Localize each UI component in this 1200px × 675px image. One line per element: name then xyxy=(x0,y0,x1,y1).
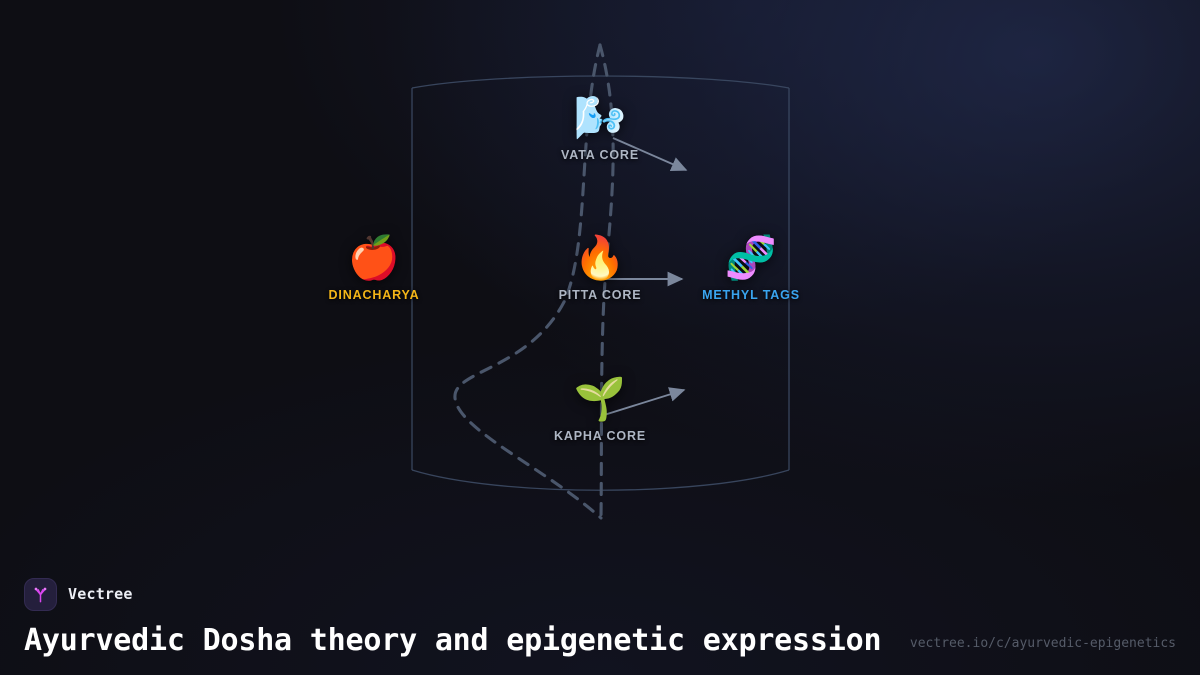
node-vata-core[interactable]: 🌬️ VATA CORE xyxy=(520,92,680,162)
dna-icon: 🧬 xyxy=(671,232,831,284)
brand-row[interactable]: Vectree xyxy=(24,578,1176,611)
apple-icon: 🍎 xyxy=(294,232,454,284)
node-label-methyl-tags: METHYL TAGS xyxy=(671,288,831,302)
brand-name: Vectree xyxy=(68,585,133,603)
footer: Vectree Ayurvedic Dosha theory and epige… xyxy=(0,578,1200,675)
node-label-vata-core: VATA CORE xyxy=(520,148,680,162)
node-dinacharya[interactable]: 🍎 DINACHARYA xyxy=(294,232,454,302)
node-label-dinacharya: DINACHARYA xyxy=(294,288,454,302)
wind-face-icon: 🌬️ xyxy=(520,92,680,144)
node-methyl-tags[interactable]: 🧬 METHYL TAGS xyxy=(671,232,831,302)
seedling-icon: 🌱 xyxy=(520,373,680,425)
fire-icon: 🔥 xyxy=(520,232,680,284)
node-label-pitta-core: PITTA CORE xyxy=(520,288,680,302)
page-title: Ayurvedic Dosha theory and epigenetic ex… xyxy=(24,625,881,657)
site-url: vectree.io/c/ayurvedic-epigenetics xyxy=(910,636,1176,657)
node-label-kapha-core: KAPHA CORE xyxy=(520,429,680,443)
node-pitta-core[interactable]: 🔥 PITTA CORE xyxy=(520,232,680,302)
vectree-branch-icon xyxy=(24,578,57,611)
node-kapha-core[interactable]: 🌱 KAPHA CORE xyxy=(520,373,680,443)
title-row: Ayurvedic Dosha theory and epigenetic ex… xyxy=(24,625,1176,657)
screenshot-root: 🌬️ VATA CORE 🍎 DINACHARYA 🔥 PITTA CORE 🧬… xyxy=(0,0,1200,675)
